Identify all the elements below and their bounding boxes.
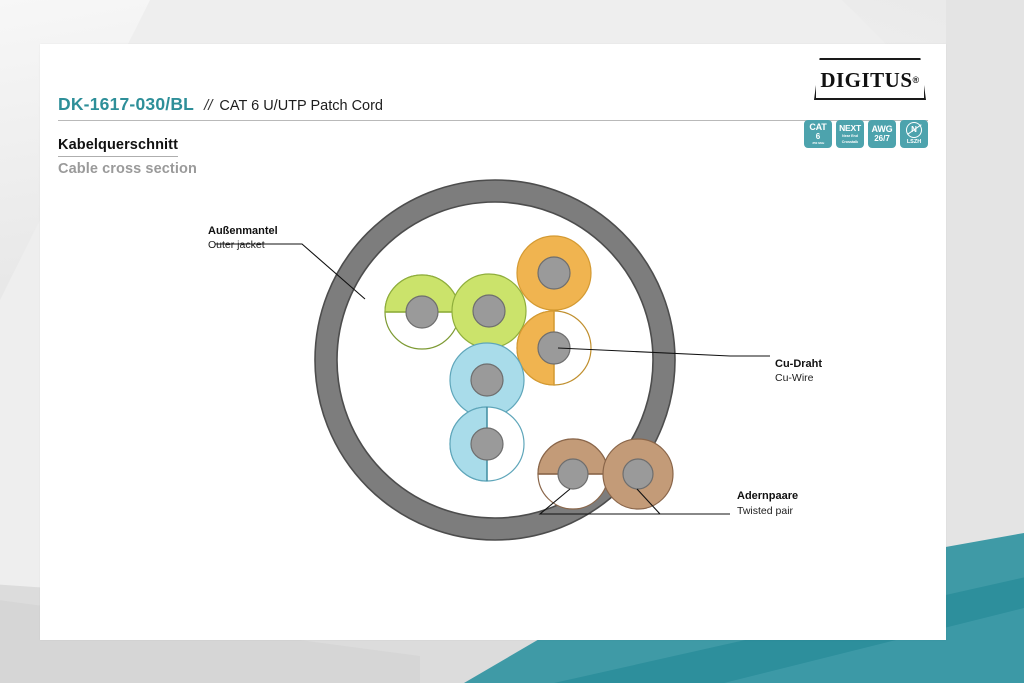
cu-wire-label-de: Cu-Draht [775,358,822,370]
content-card: DIGITUS® DK-1617-030/BL // CAT 6 U/UTP P… [40,44,946,640]
brown-solid-wire [603,439,673,509]
outer-jacket-label-en: Outer jacket [208,239,265,251]
callout-outer-jacket: Außenmantel Outer jacket [208,225,278,251]
green-solid-wire [452,274,526,348]
outer-jacket-label-de: Außenmantel [208,225,278,237]
green-striped-wire [385,275,459,349]
twisted-pair-label-en: Twisted pair [737,505,794,517]
cu-wire-label-en: Cu-Wire [775,372,814,384]
callout-cu-wire: Cu-Draht Cu-Wire [775,358,822,384]
orange-striped-wire [517,311,591,385]
twisted-pair-label-de: Adernpaare [737,490,798,502]
brown-striped-wire [538,439,608,509]
callout-twisted-pair: Adernpaare Twisted pair [737,490,798,517]
cable-cross-section-diagram: Außenmantel Outer jacket Cu-Draht Cu-Wir… [40,44,946,640]
orange-solid-wire [517,236,591,310]
blue-solid-wire [450,343,524,417]
blue-striped-wire [450,407,524,481]
background-right-band [946,0,1024,600]
